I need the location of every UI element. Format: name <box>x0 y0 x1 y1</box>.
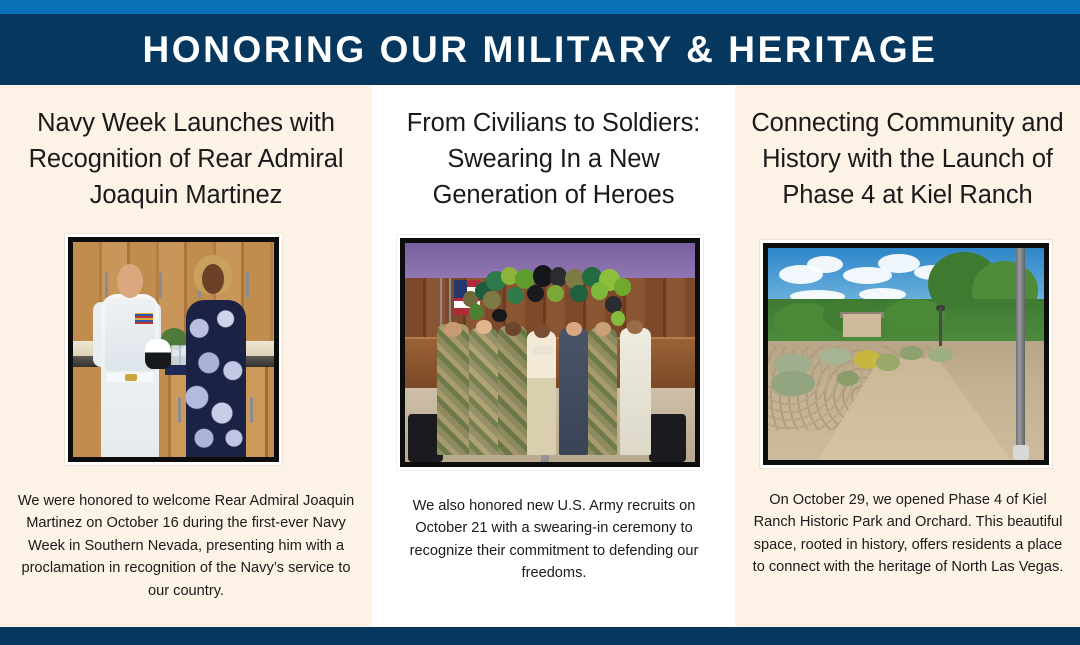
person-soldier-4 <box>588 328 617 455</box>
column-navy-week: Navy Week Launches with Recognition of R… <box>0 85 372 627</box>
photo-navy-week <box>65 234 282 465</box>
person-official-2 <box>620 328 652 455</box>
header-banner: HONORING OUR MILITARY & HERITAGE <box>0 14 1080 85</box>
column-army-swearing-in: From Civilians to Soldiers: Swearing In … <box>372 85 735 627</box>
person-soldier-1 <box>437 324 469 455</box>
person-soldier-2 <box>469 328 498 455</box>
footer-bar <box>0 627 1080 645</box>
column-heading-kiel-ranch: Connecting Community and History with th… <box>747 105 1069 214</box>
three-column-layout: Navy Week Launches with Recognition of R… <box>0 85 1080 627</box>
person-official-1 <box>559 328 588 455</box>
photo-army-scene <box>405 243 695 462</box>
photo-kiel-ranch-scene <box>768 248 1044 460</box>
photo-kiel-ranch <box>760 240 1052 468</box>
column-body-army-swearing-in: We also honored new U.S. Army recruits o… <box>394 495 714 585</box>
newsletter-page: HONORING OUR MILITARY & HERITAGE Navy We… <box>0 0 1080 645</box>
column-heading-navy-week: Navy Week Launches with Recognition of R… <box>21 105 351 214</box>
column-heading-army-swearing-in: From Civilians to Soldiers: Swearing In … <box>399 105 709 214</box>
column-kiel-ranch: Connecting Community and History with th… <box>735 85 1080 627</box>
photo-navy-week-scene <box>73 242 274 457</box>
photo-army-swearing-in <box>397 235 703 470</box>
top-accent-stripe <box>0 0 1080 14</box>
photo-army-frame <box>400 238 700 467</box>
person-soldier-3 <box>498 326 527 455</box>
photo-kiel-ranch-frame <box>763 243 1049 465</box>
column-body-navy-week: We were honored to welcome Rear Admiral … <box>17 490 355 602</box>
page-title: HONORING OUR MILITARY & HERITAGE <box>142 31 937 68</box>
column-body-kiel-ranch: On October 29, we opened Phase 4 of Kiel… <box>749 489 1067 579</box>
photo-navy-week-frame <box>68 237 279 462</box>
